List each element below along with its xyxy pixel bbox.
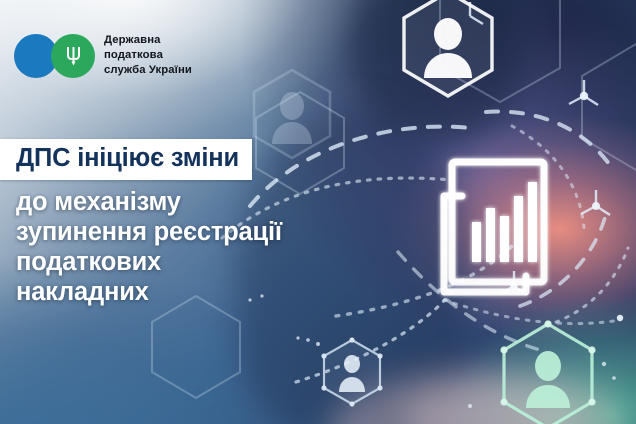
ukraine-trident-icon (65, 45, 82, 67)
poster-canvas: Державна податкова служба України ДПС ін… (0, 0, 636, 424)
hexagon-person-node-top-right (404, 0, 492, 96)
document-bar-chart-icon (444, 162, 544, 292)
hexagon-person-node-bottom-right (500, 320, 595, 424)
logo-text: Державна податкова служба України (104, 33, 192, 78)
hexagon-person-node-bottom-left (321, 337, 382, 406)
headline-body-lines: до механізму зупинення реєстрації податк… (0, 187, 420, 307)
bar-chart-bars (472, 182, 537, 262)
logo-marks (14, 34, 95, 78)
headline-block: ДПС ініціює зміни до механізму зупинення… (0, 139, 420, 307)
dps-logo: Державна податкова служба України (14, 33, 192, 78)
headline-banner-line: ДПС ініціює зміни (0, 139, 252, 180)
logo-green-circle (51, 34, 95, 78)
